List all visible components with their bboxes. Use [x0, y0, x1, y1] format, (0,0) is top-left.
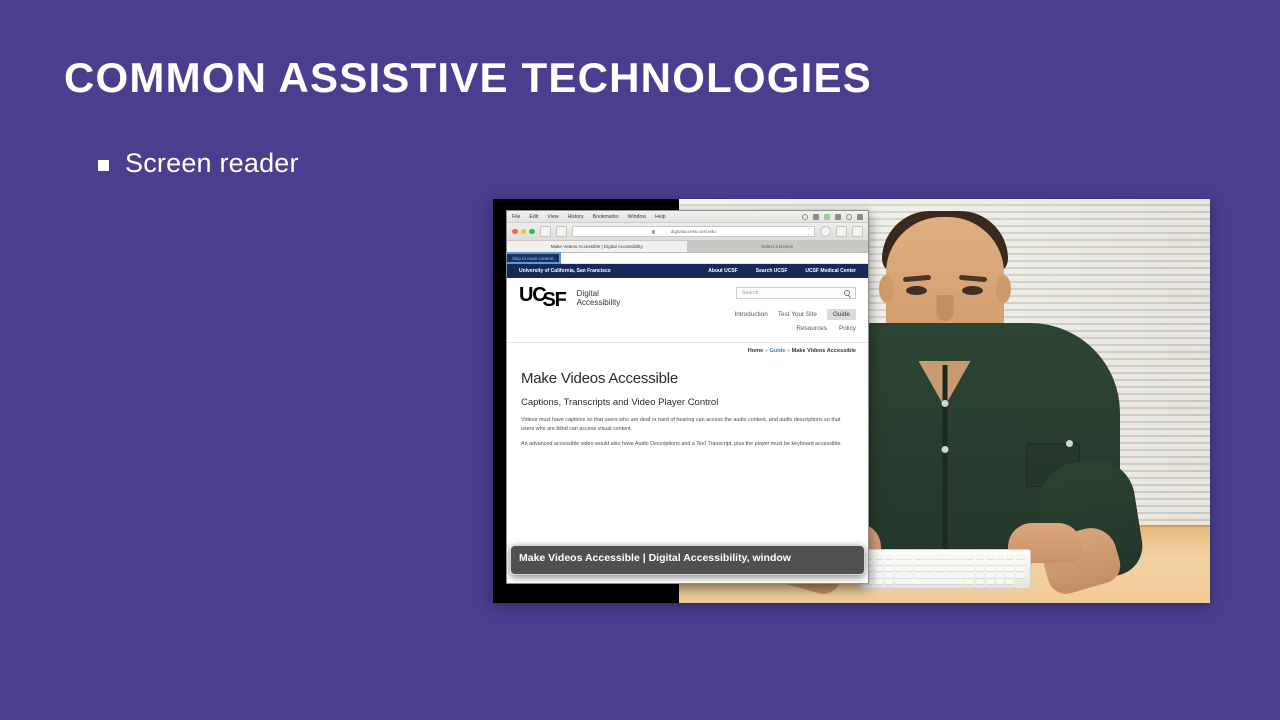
address-bar[interactable]: digitalaccess.ucsf.edu ⌃⌄: [572, 226, 816, 237]
article-subheading: Captions, Transcripts and Video Player C…: [521, 397, 854, 409]
voiceover-caption-text: Make Videos Accessible | Digital Accessi…: [519, 552, 856, 565]
secondary-nav[interactable]: Resources Policy: [796, 325, 856, 332]
clock-icon[interactable]: [857, 214, 863, 220]
url-text: digitalaccess.ucsf.edu: [671, 229, 716, 234]
breadcrumb-separator: »: [787, 348, 790, 354]
ucsf-logo[interactable]: UCSF: [519, 286, 569, 305]
back-forward-button[interactable]: [540, 226, 551, 237]
menu-item-help[interactable]: Help: [655, 214, 666, 220]
close-icon[interactable]: [512, 229, 518, 235]
nav-item-test-your-site[interactable]: Test Your Site: [778, 311, 817, 318]
voiceover-caption-panel: Make Videos Accessible | Digital Accessi…: [510, 545, 865, 575]
site-wordmark: Digital Accessibility: [577, 287, 621, 308]
nav-search-ucsf[interactable]: Search UCSF: [756, 268, 788, 274]
lock-icon: [652, 230, 655, 234]
window-controls[interactable]: [512, 229, 535, 235]
share-icon[interactable]: [836, 226, 847, 237]
nav-item-policy[interactable]: Policy: [839, 325, 856, 332]
browser-window[interactable]: File Edit View History Bookmarks Window …: [506, 210, 869, 584]
nav-ucsf-medical-center[interactable]: UCSF Medical Center: [805, 268, 856, 274]
wordmark-line2: Accessibility: [577, 298, 621, 307]
site-search-input[interactable]: Search: [736, 287, 856, 299]
eye-left: [906, 286, 927, 295]
search-placeholder: Search: [742, 290, 758, 296]
skip-link-row[interactable]: Skip to main content: [507, 253, 868, 264]
battery-icon[interactable]: [824, 214, 830, 220]
article-paragraph: Videos must have captions so that users …: [521, 416, 854, 433]
input-source-icon[interactable]: [813, 214, 819, 220]
logo-mark-top: UC: [519, 284, 546, 306]
breadcrumb-home[interactable]: Home: [748, 348, 764, 354]
wordmark-line1: Digital: [577, 289, 599, 298]
ear-right: [996, 275, 1011, 303]
wifi-icon[interactable]: [835, 214, 841, 220]
list-item: Screen reader: [98, 148, 299, 179]
browser-toolbar[interactable]: digitalaccess.ucsf.edu ⌃⌄: [507, 223, 868, 241]
browser-menu-bar[interactable]: File Edit View History Bookmarks Window …: [507, 211, 868, 223]
video-player[interactable]: File Edit View History Bookmarks Window …: [493, 199, 1210, 603]
sidebar-button[interactable]: [556, 226, 567, 237]
nav-item-resources[interactable]: Resources: [796, 325, 827, 332]
nav-about-ucsf[interactable]: About UCSF: [708, 268, 737, 274]
menu-status-icons[interactable]: [802, 214, 863, 220]
new-tab-button[interactable]: [852, 226, 863, 237]
voiceover-icon[interactable]: [802, 214, 808, 220]
primary-nav[interactable]: Introduction Test Your Site Guide: [734, 309, 856, 320]
bullet-label: Screen reader: [125, 148, 299, 179]
menu-item-file[interactable]: File: [512, 214, 520, 220]
breadcrumb-guide[interactable]: Guide: [770, 348, 786, 354]
nav-item-introduction[interactable]: Introduction: [734, 311, 767, 318]
user-icon[interactable]: [846, 214, 852, 220]
search-icon[interactable]: [844, 290, 850, 296]
ucsf-brand-label[interactable]: University of California, San Francisco: [519, 268, 611, 274]
tab-select-a-device[interactable]: Select a Device: [688, 241, 869, 252]
minimize-icon[interactable]: [521, 229, 527, 235]
square-bullet-icon: [98, 160, 109, 171]
breadcrumb-separator: »: [765, 348, 768, 354]
article-heading: Make Videos Accessible: [521, 370, 854, 387]
eye-right: [962, 286, 983, 295]
logo-mark-bottom: SF: [543, 289, 566, 311]
zoom-icon[interactable]: [529, 229, 535, 235]
ucsf-global-nav[interactable]: University of California, San Francisco …: [507, 264, 868, 278]
nose: [936, 295, 953, 321]
breadcrumb[interactable]: Home » Guide » Make Videos Accessible: [507, 342, 868, 358]
menu-item-history[interactable]: History: [567, 214, 583, 220]
menu-item-edit[interactable]: Edit: [529, 214, 538, 220]
skip-to-main-content-link[interactable]: Skip to main content: [507, 254, 559, 262]
nav-item-guide[interactable]: Guide: [827, 309, 856, 320]
menu-item-view[interactable]: View: [547, 214, 558, 220]
ear-left: [879, 275, 894, 303]
shirt-button: [941, 400, 948, 407]
reload-icon[interactable]: [820, 226, 831, 237]
chevron-updown-icon[interactable]: ⌃⌄: [807, 228, 810, 234]
shirt-button: [941, 446, 948, 453]
menu-item-bookmarks[interactable]: Bookmarks: [593, 214, 619, 220]
browser-tab-bar[interactable]: Make Videos Accessible | Digital Accessi…: [507, 241, 868, 253]
tab-make-videos-accessible[interactable]: Make Videos Accessible | Digital Accessi…: [507, 241, 688, 252]
site-header: UCSF Digital Accessibility Search Introd…: [507, 278, 868, 342]
shirt-placket: [942, 365, 947, 555]
menu-item-window[interactable]: Window: [628, 214, 646, 220]
breadcrumb-current: Make Videos Accessible: [792, 348, 856, 354]
article-body: Make Videos Accessible Captions, Transcr…: [507, 358, 868, 449]
article-paragraph: An advanced accessible video would also …: [521, 440, 854, 449]
page-title: COMMON ASSISTIVE TECHNOLOGIES: [64, 55, 872, 101]
keyboard: [859, 549, 1031, 589]
